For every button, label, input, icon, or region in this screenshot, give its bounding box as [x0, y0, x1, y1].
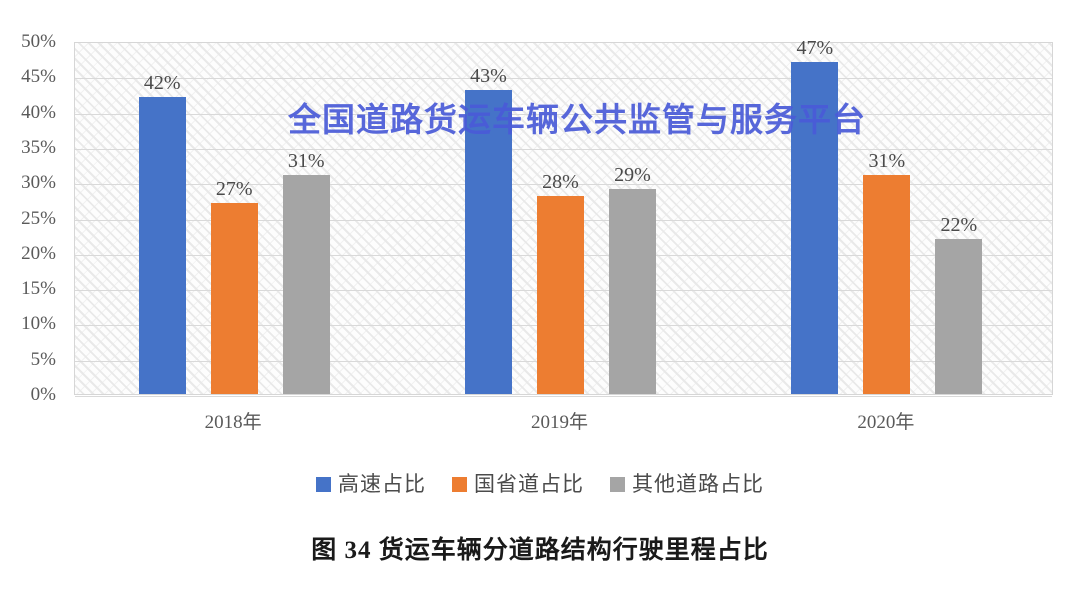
legend-swatch-icon	[610, 477, 625, 492]
bar-value-label: 42%	[125, 73, 200, 93]
legend-label: 高速占比	[338, 472, 426, 496]
legend-item-国省道占比[interactable]: 国省道占比	[452, 472, 584, 496]
bar-2018年-国省道占比	[211, 203, 258, 394]
bar-2019年-其他道路占比	[609, 189, 656, 394]
bar-value-label: 31%	[269, 151, 344, 171]
bar-2019年-国省道占比	[537, 196, 584, 394]
y-axis-tick-label: 40%	[21, 103, 56, 122]
y-axis-tick-label: 30%	[21, 173, 56, 192]
y-axis-tick-label: 45%	[21, 67, 56, 86]
gridline	[75, 149, 1052, 150]
bar-value-label: 31%	[849, 151, 924, 171]
x-axis-tick-label: 2018年	[98, 412, 369, 434]
legend-swatch-icon	[316, 477, 331, 492]
y-axis: 50%45%40%35%30%25%20%15%10%5%0%	[0, 0, 64, 596]
gridline	[75, 78, 1052, 79]
bar-value-label: 29%	[595, 165, 670, 185]
y-axis-tick-label: 20%	[21, 244, 56, 263]
y-axis-tick-label: 15%	[21, 279, 56, 298]
chart-legend: 高速占比国省道占比其他道路占比	[0, 472, 1080, 496]
bar-2020年-国省道占比	[863, 175, 910, 394]
legend-swatch-icon	[452, 477, 467, 492]
y-axis-tick-label: 25%	[21, 209, 56, 228]
plot-area: 42%27%31%43%28%29%47%31%22%	[74, 42, 1053, 395]
legend-item-其他道路占比[interactable]: 其他道路占比	[610, 472, 764, 496]
watermark-text: 全国道路货运车辆公共监管与服务平台	[288, 100, 866, 140]
bar-value-label: 27%	[197, 179, 272, 199]
bar-value-label: 47%	[777, 38, 852, 58]
legend-item-高速占比[interactable]: 高速占比	[316, 472, 426, 496]
legend-label: 其他道路占比	[632, 472, 764, 496]
x-axis-tick-label: 2020年	[750, 412, 1021, 434]
legend-label: 国省道占比	[474, 472, 584, 496]
bar-value-label: 22%	[921, 215, 996, 235]
y-axis-tick-label: 5%	[31, 350, 56, 369]
figure-caption: 图 34 货运车辆分道路结构行驶里程占比	[0, 535, 1080, 567]
x-axis-tick-label: 2019年	[424, 412, 695, 434]
chart-figure: 50%45%40%35%30%25%20%15%10%5%0% 42%27%31…	[0, 0, 1080, 596]
gridline	[75, 396, 1052, 397]
bar-2018年-高速占比	[139, 97, 186, 394]
y-axis-tick-label: 0%	[31, 385, 56, 404]
bar-value-label: 43%	[451, 66, 526, 86]
y-axis-tick-label: 35%	[21, 138, 56, 157]
y-axis-tick-label: 50%	[21, 32, 56, 51]
bar-value-label: 28%	[523, 172, 598, 192]
bar-2018年-其他道路占比	[283, 175, 330, 394]
y-axis-tick-label: 10%	[21, 314, 56, 333]
bar-2020年-其他道路占比	[935, 239, 982, 394]
